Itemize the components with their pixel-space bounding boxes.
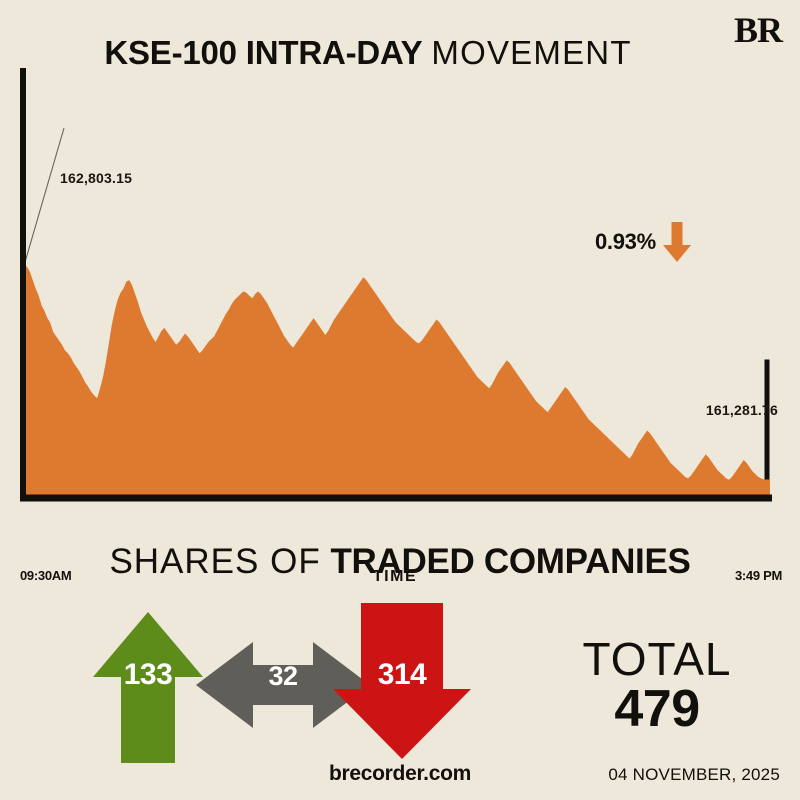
advanced-count: 133 — [96, 658, 200, 692]
intraday-chart: 162,803.15 161,281.76 0.93% 09:30AM TIME… — [0, 60, 800, 510]
high-leader-line — [24, 128, 64, 266]
shares-section-title: SHARES OF TRADED COMPANIES — [0, 542, 800, 582]
declined-count: 314 — [351, 658, 453, 692]
shares-title-light: SHARES OF — [109, 542, 320, 581]
change-indicator: 0.93% — [595, 220, 692, 264]
shares-title-bold: TRADED COMPANIES — [330, 542, 690, 581]
unchanged-count: 32 — [232, 661, 334, 692]
chart-svg — [0, 60, 800, 510]
infographic-root: KSE-100 INTRA-DAY MOVEMENT BR 162,803.15… — [0, 0, 800, 800]
price-area-path — [24, 266, 770, 498]
report-date: 04 NOVEMBER, 2025 — [608, 765, 780, 785]
change-percent: 0.93% — [595, 229, 656, 255]
total-block: TOTAL 479 — [552, 636, 762, 737]
arrow-down-icon — [662, 220, 692, 264]
total-value: 479 — [552, 682, 762, 737]
chart-high-value: 162,803.15 — [60, 170, 132, 186]
total-label: TOTAL — [552, 636, 762, 682]
chart-close-value: 161,281.76 — [706, 402, 778, 418]
br-logo: BR — [734, 12, 782, 48]
